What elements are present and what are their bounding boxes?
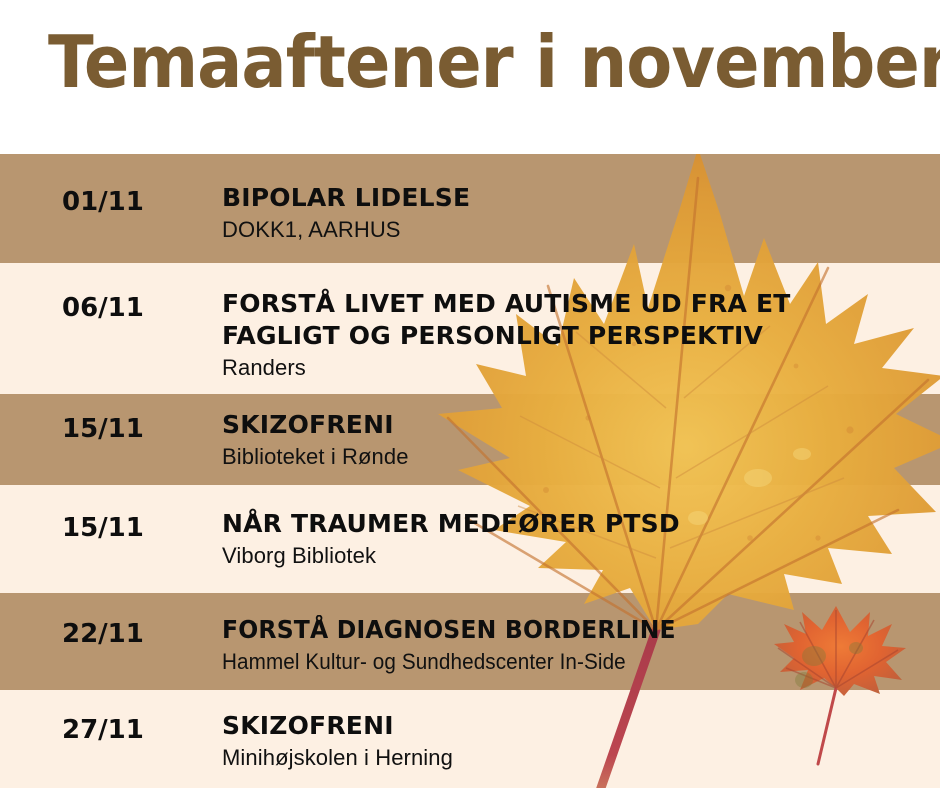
event-date: 06/11 (62, 293, 144, 323)
event-venue: Hammel Kultur- og Sundhedscenter In-Side (222, 648, 888, 677)
event-date: 15/11 (62, 513, 144, 543)
event-row[interactable]: 15/11 NÅR TRAUMER MEDFØRER PTSD Viborg B… (0, 485, 940, 593)
event-venue: DOKK1, AARHUS (222, 216, 930, 245)
event-body: FORSTÅ LIVET MED AUTISME UD FRA ET FAGLI… (222, 288, 930, 383)
event-body: BIPOLAR LIDELSE DOKK1, AARHUS (222, 182, 930, 245)
event-title: FORSTÅ LIVET MED AUTISME UD FRA ET FAGLI… (222, 288, 930, 352)
event-title: NÅR TRAUMER MEDFØRER PTSD (222, 508, 930, 540)
event-row[interactable]: 01/11 BIPOLAR LIDELSE DOKK1, AARHUS (0, 154, 940, 263)
event-date: 15/11 (62, 414, 144, 444)
event-row[interactable]: 15/11 SKIZOFRENI Biblioteket i Rønde (0, 394, 940, 485)
event-body: SKIZOFRENI Biblioteket i Rønde (222, 409, 930, 472)
event-body: SKIZOFRENI Minihøjskolen i Herning (222, 710, 930, 773)
event-title: SKIZOFRENI (222, 710, 930, 742)
event-date: 27/11 (62, 715, 144, 745)
event-body: FORSTÅ DIAGNOSEN BORDERLINE Hammel Kultu… (222, 614, 930, 677)
header-bar: Temaaftener i november (0, 0, 940, 154)
event-venue: Minihøjskolen i Herning (222, 744, 930, 773)
event-title: BIPOLAR LIDELSE (222, 182, 930, 214)
event-venue: Viborg Bibliotek (222, 542, 930, 571)
event-title: FORSTÅ DIAGNOSEN BORDERLINE (222, 614, 888, 646)
event-body: NÅR TRAUMER MEDFØRER PTSD Viborg Bibliot… (222, 508, 930, 571)
poster-canvas: Temaaftener i november 01/11 BIPOLAR LID… (0, 0, 940, 788)
event-date: 01/11 (62, 187, 144, 217)
event-venue: Randers (222, 354, 930, 383)
page-title: Temaaftener i november (48, 26, 848, 98)
event-venue: Biblioteket i Rønde (222, 443, 930, 472)
event-row[interactable]: 22/11 FORSTÅ DIAGNOSEN BORDERLINE Hammel… (0, 593, 940, 690)
event-row[interactable]: 27/11 SKIZOFRENI Minihøjskolen i Herning (0, 690, 940, 788)
event-title: SKIZOFRENI (222, 409, 930, 441)
event-date: 22/11 (62, 619, 144, 649)
event-row[interactable]: 06/11 FORSTÅ LIVET MED AUTISME UD FRA ET… (0, 263, 940, 394)
